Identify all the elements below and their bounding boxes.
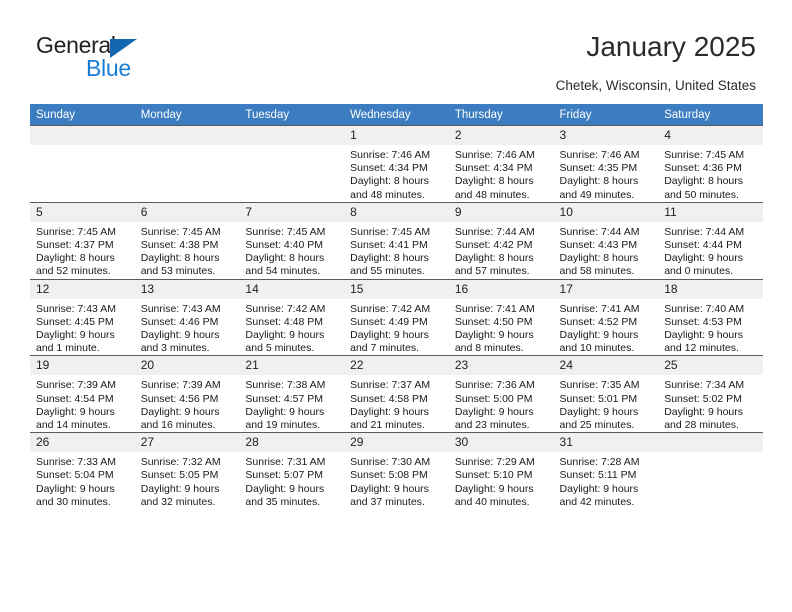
daylight-duration-line2: and 28 minutes. xyxy=(664,419,759,432)
day-sun-info: Sunrise: 7:43 AMSunset: 4:46 PMDaylight:… xyxy=(135,299,240,356)
day-number xyxy=(135,126,240,145)
daylight-duration-line2: and 19 minutes. xyxy=(245,419,340,432)
daylight-duration-line1: Daylight: 9 hours xyxy=(455,483,550,496)
sunset-time: Sunset: 4:34 PM xyxy=(350,162,445,175)
day-sun-info: Sunrise: 7:39 AMSunset: 4:56 PMDaylight:… xyxy=(135,375,240,432)
weekday-header-tuesday: Tuesday xyxy=(239,104,344,126)
sunset-time: Sunset: 4:35 PM xyxy=(560,162,655,175)
daylight-duration-line2: and 16 minutes. xyxy=(141,419,236,432)
daylight-duration-line1: Daylight: 9 hours xyxy=(141,329,236,342)
daylight-duration-line1: Daylight: 9 hours xyxy=(560,483,655,496)
calendar-day-cell[interactable]: 17Sunrise: 7:41 AMSunset: 4:52 PMDayligh… xyxy=(554,279,659,356)
calendar-day-cell[interactable]: 29Sunrise: 7:30 AMSunset: 5:08 PMDayligh… xyxy=(344,433,449,509)
daylight-duration-line1: Daylight: 8 hours xyxy=(350,175,445,188)
sunrise-time: Sunrise: 7:45 AM xyxy=(36,226,131,239)
daylight-duration-line1: Daylight: 9 hours xyxy=(560,406,655,419)
calendar-day-cell[interactable]: 2Sunrise: 7:46 AMSunset: 4:34 PMDaylight… xyxy=(449,126,554,203)
sunrise-time: Sunrise: 7:30 AM xyxy=(350,456,445,469)
day-number: 8 xyxy=(344,203,449,222)
daylight-duration-line2: and 54 minutes. xyxy=(245,265,340,278)
day-number: 6 xyxy=(135,203,240,222)
sunrise-time: Sunrise: 7:31 AM xyxy=(245,456,340,469)
weekday-header-sunday: Sunday xyxy=(30,104,135,126)
logo-text-blue: Blue xyxy=(86,56,131,81)
daylight-duration-line1: Daylight: 9 hours xyxy=(245,483,340,496)
calendar-day-cell[interactable]: 4Sunrise: 7:45 AMSunset: 4:36 PMDaylight… xyxy=(658,126,763,203)
calendar-week-row: 26Sunrise: 7:33 AMSunset: 5:04 PMDayligh… xyxy=(30,433,763,509)
sunrise-time: Sunrise: 7:39 AM xyxy=(141,379,236,392)
day-number: 29 xyxy=(344,433,449,452)
daylight-duration-line1: Daylight: 9 hours xyxy=(141,406,236,419)
sunset-time: Sunset: 5:11 PM xyxy=(560,469,655,482)
day-number: 17 xyxy=(554,280,659,299)
day-number xyxy=(30,126,135,145)
sunrise-time: Sunrise: 7:45 AM xyxy=(350,226,445,239)
daylight-duration-line2: and 8 minutes. xyxy=(455,342,550,355)
day-number: 5 xyxy=(30,203,135,222)
day-sun-info: Sunrise: 7:32 AMSunset: 5:05 PMDaylight:… xyxy=(135,452,240,509)
sunrise-time: Sunrise: 7:37 AM xyxy=(350,379,445,392)
day-number: 23 xyxy=(449,356,554,375)
sunset-time: Sunset: 4:36 PM xyxy=(664,162,759,175)
sunset-time: Sunset: 4:42 PM xyxy=(455,239,550,252)
day-sun-info: Sunrise: 7:44 AMSunset: 4:43 PMDaylight:… xyxy=(554,222,659,279)
sunset-time: Sunset: 4:43 PM xyxy=(560,239,655,252)
daylight-duration-line2: and 58 minutes. xyxy=(560,265,655,278)
daylight-duration-line2: and 40 minutes. xyxy=(455,496,550,509)
calendar-day-cell[interactable]: 1Sunrise: 7:46 AMSunset: 4:34 PMDaylight… xyxy=(344,126,449,203)
day-sun-info: Sunrise: 7:39 AMSunset: 4:54 PMDaylight:… xyxy=(30,375,135,432)
daylight-duration-line2: and 53 minutes. xyxy=(141,265,236,278)
daylight-duration-line2: and 3 minutes. xyxy=(141,342,236,355)
daylight-duration-line1: Daylight: 9 hours xyxy=(664,252,759,265)
sunset-time: Sunset: 4:34 PM xyxy=(455,162,550,175)
sunset-time: Sunset: 4:46 PM xyxy=(141,316,236,329)
sunrise-time: Sunrise: 7:43 AM xyxy=(36,303,131,316)
day-number: 3 xyxy=(554,126,659,145)
calendar-day-cell[interactable]: 15Sunrise: 7:42 AMSunset: 4:49 PMDayligh… xyxy=(344,279,449,356)
sunrise-time: Sunrise: 7:42 AM xyxy=(350,303,445,316)
daylight-duration-line2: and 35 minutes. xyxy=(245,496,340,509)
sunrise-time: Sunrise: 7:32 AM xyxy=(141,456,236,469)
sunset-time: Sunset: 5:05 PM xyxy=(141,469,236,482)
day-sun-info: Sunrise: 7:46 AMSunset: 4:34 PMDaylight:… xyxy=(344,145,449,202)
day-sun-info: Sunrise: 7:45 AMSunset: 4:40 PMDaylight:… xyxy=(239,222,344,279)
day-number: 25 xyxy=(658,356,763,375)
calendar-day-cell[interactable]: 7Sunrise: 7:45 AMSunset: 4:40 PMDaylight… xyxy=(239,202,344,279)
sunrise-time: Sunrise: 7:45 AM xyxy=(245,226,340,239)
day-sun-info: Sunrise: 7:41 AMSunset: 4:52 PMDaylight:… xyxy=(554,299,659,356)
sunset-time: Sunset: 5:04 PM xyxy=(36,469,131,482)
day-sun-info: Sunrise: 7:40 AMSunset: 4:53 PMDaylight:… xyxy=(658,299,763,356)
sunset-time: Sunset: 5:02 PM xyxy=(664,393,759,406)
daylight-duration-line1: Daylight: 8 hours xyxy=(560,252,655,265)
sunrise-time: Sunrise: 7:44 AM xyxy=(560,226,655,239)
day-number: 7 xyxy=(239,203,344,222)
calendar-week-row: 12Sunrise: 7:43 AMSunset: 4:45 PMDayligh… xyxy=(30,279,763,356)
calendar-day-cell[interactable]: 16Sunrise: 7:41 AMSunset: 4:50 PMDayligh… xyxy=(449,279,554,356)
day-number: 9 xyxy=(449,203,554,222)
sunrise-time: Sunrise: 7:39 AM xyxy=(36,379,131,392)
calendar-week-row: 19Sunrise: 7:39 AMSunset: 4:54 PMDayligh… xyxy=(30,356,763,433)
daylight-duration-line1: Daylight: 9 hours xyxy=(245,329,340,342)
daylight-duration-line2: and 50 minutes. xyxy=(664,189,759,202)
sunset-time: Sunset: 4:48 PM xyxy=(245,316,340,329)
day-number: 31 xyxy=(554,433,659,452)
day-sun-info: Sunrise: 7:45 AMSunset: 4:38 PMDaylight:… xyxy=(135,222,240,279)
sunrise-time: Sunrise: 7:35 AM xyxy=(560,379,655,392)
calendar-day-cell[interactable]: 11Sunrise: 7:44 AMSunset: 4:44 PMDayligh… xyxy=(658,202,763,279)
sunrise-time: Sunrise: 7:34 AM xyxy=(664,379,759,392)
day-sun-info: Sunrise: 7:37 AMSunset: 4:58 PMDaylight:… xyxy=(344,375,449,432)
day-sun-info: Sunrise: 7:46 AMSunset: 4:35 PMDaylight:… xyxy=(554,145,659,202)
day-number: 28 xyxy=(239,433,344,452)
day-number: 21 xyxy=(239,356,344,375)
weekday-header-friday: Friday xyxy=(554,104,659,126)
day-number: 26 xyxy=(30,433,135,452)
daylight-duration-line1: Daylight: 9 hours xyxy=(455,329,550,342)
sunrise-time: Sunrise: 7:29 AM xyxy=(455,456,550,469)
sunset-time: Sunset: 4:54 PM xyxy=(36,393,131,406)
day-number: 4 xyxy=(658,126,763,145)
day-number: 10 xyxy=(554,203,659,222)
daylight-duration-line1: Daylight: 8 hours xyxy=(245,252,340,265)
sunrise-time: Sunrise: 7:41 AM xyxy=(560,303,655,316)
daylight-duration-line2: and 10 minutes. xyxy=(560,342,655,355)
daylight-duration-line1: Daylight: 9 hours xyxy=(141,483,236,496)
daylight-duration-line2: and 1 minute. xyxy=(36,342,131,355)
sunrise-time: Sunrise: 7:46 AM xyxy=(560,149,655,162)
sunrise-time: Sunrise: 7:40 AM xyxy=(664,303,759,316)
sunset-time: Sunset: 4:40 PM xyxy=(245,239,340,252)
day-number: 24 xyxy=(554,356,659,375)
day-number: 13 xyxy=(135,280,240,299)
sunrise-time: Sunrise: 7:46 AM xyxy=(350,149,445,162)
calendar-body: 1Sunrise: 7:46 AMSunset: 4:34 PMDaylight… xyxy=(30,126,763,510)
page-header: General Blue January 2025 Chetek, Wiscon… xyxy=(0,0,792,104)
calendar-day-cell-empty xyxy=(135,126,240,203)
sunrise-time: Sunrise: 7:38 AM xyxy=(245,379,340,392)
day-sun-info: Sunrise: 7:45 AMSunset: 4:41 PMDaylight:… xyxy=(344,222,449,279)
sunrise-time: Sunrise: 7:42 AM xyxy=(245,303,340,316)
day-number: 18 xyxy=(658,280,763,299)
daylight-duration-line2: and 12 minutes. xyxy=(664,342,759,355)
day-number: 12 xyxy=(30,280,135,299)
daylight-duration-line1: Daylight: 9 hours xyxy=(664,329,759,342)
page-subtitle-location: Chetek, Wisconsin, United States xyxy=(556,78,756,93)
calendar-day-cell-empty xyxy=(30,126,135,203)
sunset-time: Sunset: 5:00 PM xyxy=(455,393,550,406)
day-number: 15 xyxy=(344,280,449,299)
sunset-time: Sunset: 4:56 PM xyxy=(141,393,236,406)
calendar-week-row: 5Sunrise: 7:45 AMSunset: 4:37 PMDaylight… xyxy=(30,202,763,279)
day-sun-info: Sunrise: 7:38 AMSunset: 4:57 PMDaylight:… xyxy=(239,375,344,432)
daylight-duration-line1: Daylight: 8 hours xyxy=(350,252,445,265)
sunset-time: Sunset: 5:07 PM xyxy=(245,469,340,482)
calendar-day-cell[interactable]: 31Sunrise: 7:28 AMSunset: 5:11 PMDayligh… xyxy=(554,433,659,509)
sunset-time: Sunset: 4:41 PM xyxy=(350,239,445,252)
calendar-day-cell[interactable]: 10Sunrise: 7:44 AMSunset: 4:43 PMDayligh… xyxy=(554,202,659,279)
page-title: January 2025 xyxy=(586,31,756,63)
sunrise-time: Sunrise: 7:28 AM xyxy=(560,456,655,469)
daylight-duration-line2: and 21 minutes. xyxy=(350,419,445,432)
daylight-duration-line2: and 25 minutes. xyxy=(560,419,655,432)
daylight-duration-line1: Daylight: 9 hours xyxy=(350,406,445,419)
day-sun-info: Sunrise: 7:44 AMSunset: 4:42 PMDaylight:… xyxy=(449,222,554,279)
sunset-time: Sunset: 4:58 PM xyxy=(350,393,445,406)
sunrise-time: Sunrise: 7:33 AM xyxy=(36,456,131,469)
day-sun-info: Sunrise: 7:28 AMSunset: 5:11 PMDaylight:… xyxy=(554,452,659,509)
daylight-duration-line2: and 5 minutes. xyxy=(245,342,340,355)
day-number xyxy=(239,126,344,145)
calendar-day-cell[interactable]: 5Sunrise: 7:45 AMSunset: 4:37 PMDaylight… xyxy=(30,202,135,279)
calendar-day-cell[interactable]: 23Sunrise: 7:36 AMSunset: 5:00 PMDayligh… xyxy=(449,356,554,433)
daylight-duration-line1: Daylight: 8 hours xyxy=(455,252,550,265)
day-number: 16 xyxy=(449,280,554,299)
day-number: 1 xyxy=(344,126,449,145)
calendar-day-cell[interactable]: 27Sunrise: 7:32 AMSunset: 5:05 PMDayligh… xyxy=(135,433,240,509)
daylight-duration-line1: Daylight: 9 hours xyxy=(560,329,655,342)
weekday-header-wednesday: Wednesday xyxy=(344,104,449,126)
daylight-duration-line1: Daylight: 9 hours xyxy=(245,406,340,419)
calendar-day-cell[interactable]: 14Sunrise: 7:42 AMSunset: 4:48 PMDayligh… xyxy=(239,279,344,356)
daylight-duration-line2: and 55 minutes. xyxy=(350,265,445,278)
daylight-duration-line1: Daylight: 8 hours xyxy=(455,175,550,188)
day-sun-info: Sunrise: 7:35 AMSunset: 5:01 PMDaylight:… xyxy=(554,375,659,432)
day-sun-info: Sunrise: 7:34 AMSunset: 5:02 PMDaylight:… xyxy=(658,375,763,432)
sunrise-time: Sunrise: 7:36 AM xyxy=(455,379,550,392)
calendar-page: General Blue January 2025 Chetek, Wiscon… xyxy=(0,0,792,612)
sunset-time: Sunset: 4:50 PM xyxy=(455,316,550,329)
daylight-duration-line1: Daylight: 9 hours xyxy=(36,406,131,419)
day-number: 11 xyxy=(658,203,763,222)
day-number xyxy=(658,433,763,452)
sunset-time: Sunset: 4:44 PM xyxy=(664,239,759,252)
day-sun-info: Sunrise: 7:45 AMSunset: 4:36 PMDaylight:… xyxy=(658,145,763,202)
daylight-duration-line1: Daylight: 9 hours xyxy=(664,406,759,419)
weekday-header-row: Sunday Monday Tuesday Wednesday Thursday… xyxy=(30,104,763,126)
day-sun-info: Sunrise: 7:42 AMSunset: 4:48 PMDaylight:… xyxy=(239,299,344,356)
daylight-duration-line2: and 0 minutes. xyxy=(664,265,759,278)
day-number: 30 xyxy=(449,433,554,452)
daylight-duration-line2: and 14 minutes. xyxy=(36,419,131,432)
sunset-time: Sunset: 4:57 PM xyxy=(245,393,340,406)
sunset-time: Sunset: 4:37 PM xyxy=(36,239,131,252)
daylight-duration-line2: and 30 minutes. xyxy=(36,496,131,509)
sunset-time: Sunset: 5:08 PM xyxy=(350,469,445,482)
sunset-time: Sunset: 5:01 PM xyxy=(560,393,655,406)
calendar-day-cell[interactable]: 8Sunrise: 7:45 AMSunset: 4:41 PMDaylight… xyxy=(344,202,449,279)
calendar-day-cell[interactable]: 26Sunrise: 7:33 AMSunset: 5:04 PMDayligh… xyxy=(30,433,135,509)
daylight-duration-line2: and 48 minutes. xyxy=(455,189,550,202)
sunset-time: Sunset: 4:45 PM xyxy=(36,316,131,329)
daylight-duration-line1: Daylight: 9 hours xyxy=(455,406,550,419)
calendar-day-cell[interactable]: 19Sunrise: 7:39 AMSunset: 4:54 PMDayligh… xyxy=(30,356,135,433)
day-sun-info: Sunrise: 7:30 AMSunset: 5:08 PMDaylight:… xyxy=(344,452,449,509)
calendar-day-cell[interactable]: 18Sunrise: 7:40 AMSunset: 4:53 PMDayligh… xyxy=(658,279,763,356)
day-number: 22 xyxy=(344,356,449,375)
sunrise-sunset-calendar: Sunday Monday Tuesday Wednesday Thursday… xyxy=(30,104,763,509)
day-sun-info: Sunrise: 7:36 AMSunset: 5:00 PMDaylight:… xyxy=(449,375,554,432)
day-number: 20 xyxy=(135,356,240,375)
daylight-duration-line2: and 49 minutes. xyxy=(560,189,655,202)
day-number: 27 xyxy=(135,433,240,452)
weekday-header-saturday: Saturday xyxy=(658,104,763,126)
daylight-duration-line2: and 48 minutes. xyxy=(350,189,445,202)
daylight-duration-line2: and 57 minutes. xyxy=(455,265,550,278)
daylight-duration-line2: and 23 minutes. xyxy=(455,419,550,432)
daylight-duration-line2: and 37 minutes. xyxy=(350,496,445,509)
calendar-day-cell[interactable]: 22Sunrise: 7:37 AMSunset: 4:58 PMDayligh… xyxy=(344,356,449,433)
calendar-day-cell[interactable]: 9Sunrise: 7:44 AMSunset: 4:42 PMDaylight… xyxy=(449,202,554,279)
day-sun-info: Sunrise: 7:31 AMSunset: 5:07 PMDaylight:… xyxy=(239,452,344,509)
sunset-time: Sunset: 4:49 PM xyxy=(350,316,445,329)
calendar-day-cell[interactable]: 12Sunrise: 7:43 AMSunset: 4:45 PMDayligh… xyxy=(30,279,135,356)
sunrise-time: Sunrise: 7:44 AM xyxy=(664,226,759,239)
daylight-duration-line1: Daylight: 9 hours xyxy=(350,329,445,342)
day-sun-info: Sunrise: 7:41 AMSunset: 4:50 PMDaylight:… xyxy=(449,299,554,356)
daylight-duration-line1: Daylight: 8 hours xyxy=(141,252,236,265)
daylight-duration-line2: and 52 minutes. xyxy=(36,265,131,278)
sunrise-time: Sunrise: 7:44 AM xyxy=(455,226,550,239)
weekday-header-thursday: Thursday xyxy=(449,104,554,126)
day-sun-info: Sunrise: 7:43 AMSunset: 4:45 PMDaylight:… xyxy=(30,299,135,356)
calendar-day-cell-empty xyxy=(658,433,763,509)
day-number: 2 xyxy=(449,126,554,145)
calendar-day-cell[interactable]: 13Sunrise: 7:43 AMSunset: 4:46 PMDayligh… xyxy=(135,279,240,356)
weekday-header-monday: Monday xyxy=(135,104,240,126)
daylight-duration-line1: Daylight: 9 hours xyxy=(350,483,445,496)
day-sun-info: Sunrise: 7:29 AMSunset: 5:10 PMDaylight:… xyxy=(449,452,554,509)
calendar-week-row: 1Sunrise: 7:46 AMSunset: 4:34 PMDaylight… xyxy=(30,126,763,203)
sunset-time: Sunset: 4:53 PM xyxy=(664,316,759,329)
daylight-duration-line1: Daylight: 9 hours xyxy=(36,329,131,342)
calendar-day-cell[interactable]: 21Sunrise: 7:38 AMSunset: 4:57 PMDayligh… xyxy=(239,356,344,433)
sunrise-time: Sunrise: 7:41 AM xyxy=(455,303,550,316)
daylight-duration-line1: Daylight: 9 hours xyxy=(36,483,131,496)
sunrise-time: Sunrise: 7:43 AM xyxy=(141,303,236,316)
sunset-time: Sunset: 4:38 PM xyxy=(141,239,236,252)
day-sun-info: Sunrise: 7:44 AMSunset: 4:44 PMDaylight:… xyxy=(658,222,763,279)
daylight-duration-line2: and 32 minutes. xyxy=(141,496,236,509)
daylight-duration-line1: Daylight: 8 hours xyxy=(664,175,759,188)
sunset-time: Sunset: 4:52 PM xyxy=(560,316,655,329)
day-sun-info: Sunrise: 7:33 AMSunset: 5:04 PMDaylight:… xyxy=(30,452,135,509)
sunset-time: Sunset: 5:10 PM xyxy=(455,469,550,482)
calendar-day-cell[interactable]: 30Sunrise: 7:29 AMSunset: 5:10 PMDayligh… xyxy=(449,433,554,509)
calendar-day-cell-empty xyxy=(239,126,344,203)
calendar-day-cell[interactable]: 20Sunrise: 7:39 AMSunset: 4:56 PMDayligh… xyxy=(135,356,240,433)
daylight-duration-line2: and 42 minutes. xyxy=(560,496,655,509)
calendar-day-cell[interactable]: 28Sunrise: 7:31 AMSunset: 5:07 PMDayligh… xyxy=(239,433,344,509)
day-number: 14 xyxy=(239,280,344,299)
sunrise-time: Sunrise: 7:46 AM xyxy=(455,149,550,162)
day-sun-info: Sunrise: 7:42 AMSunset: 4:49 PMDaylight:… xyxy=(344,299,449,356)
sunrise-time: Sunrise: 7:45 AM xyxy=(664,149,759,162)
general-blue-logo[interactable]: General Blue xyxy=(36,33,226,85)
daylight-duration-line1: Daylight: 8 hours xyxy=(36,252,131,265)
calendar-day-cell[interactable]: 25Sunrise: 7:34 AMSunset: 5:02 PMDayligh… xyxy=(658,356,763,433)
day-sun-info: Sunrise: 7:46 AMSunset: 4:34 PMDaylight:… xyxy=(449,145,554,202)
sunrise-time: Sunrise: 7:45 AM xyxy=(141,226,236,239)
calendar-day-cell[interactable]: 3Sunrise: 7:46 AMSunset: 4:35 PMDaylight… xyxy=(554,126,659,203)
day-sun-info: Sunrise: 7:45 AMSunset: 4:37 PMDaylight:… xyxy=(30,222,135,279)
calendar-day-cell[interactable]: 24Sunrise: 7:35 AMSunset: 5:01 PMDayligh… xyxy=(554,356,659,433)
daylight-duration-line1: Daylight: 8 hours xyxy=(560,175,655,188)
calendar-day-cell[interactable]: 6Sunrise: 7:45 AMSunset: 4:38 PMDaylight… xyxy=(135,202,240,279)
daylight-duration-line2: and 7 minutes. xyxy=(350,342,445,355)
day-number: 19 xyxy=(30,356,135,375)
